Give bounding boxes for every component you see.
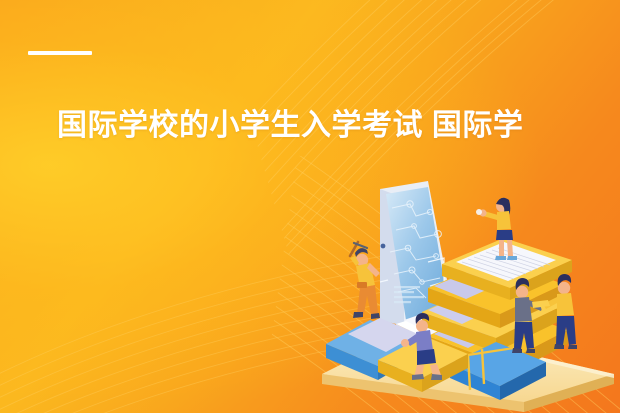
hero-illustration xyxy=(318,178,620,413)
page-title: 国际学校的小学生入学考试 国际学 xyxy=(57,104,620,148)
figure-worker-with-tool xyxy=(350,242,380,319)
accent-rule xyxy=(28,51,92,55)
promo-banner: 国际学校的小学生入学考试 国际学 xyxy=(0,0,620,413)
